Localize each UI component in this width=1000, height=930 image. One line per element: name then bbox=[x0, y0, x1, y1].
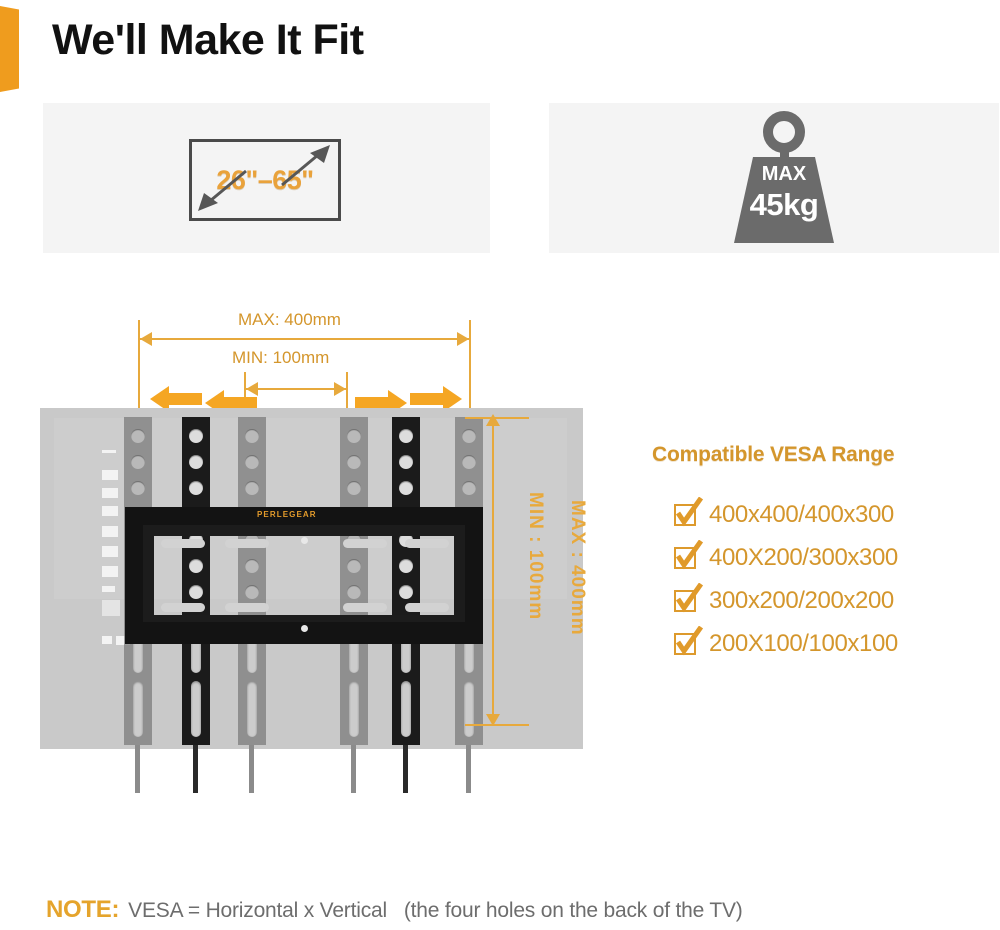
max-width-label: MAX: 400mm bbox=[238, 310, 341, 330]
note-text: VESA = Horizontal x Vertical (the four h… bbox=[128, 899, 742, 923]
vesa-item-2[interactable]: 300x200/200x200 bbox=[674, 579, 992, 622]
diagonal-arrow-up-icon bbox=[278, 145, 334, 194]
bracket-slot bbox=[343, 603, 387, 612]
tv-screen-outline-icon: 26"–65" bbox=[189, 139, 341, 221]
weight-value: 45kg bbox=[728, 187, 840, 223]
min-height-arrow-down bbox=[486, 714, 500, 726]
min-height-dimension-line bbox=[492, 424, 494, 720]
vesa-range-block: Compatible VESA Range 400x400/400x300 40… bbox=[652, 443, 992, 665]
tv-port-mark bbox=[102, 586, 115, 592]
mount-compatibility-diagram: MAX: 400mm MIN: 100mm bbox=[0, 262, 620, 792]
min-width-tick-right bbox=[346, 372, 348, 408]
tv-port-mark bbox=[102, 470, 118, 480]
bracket-slot bbox=[225, 603, 269, 612]
vesa-item-1[interactable]: 400X200/300x300 bbox=[674, 536, 992, 579]
max-width-dimension-line bbox=[140, 338, 469, 340]
footer-note: NOTE: VESA = Horizontal x Vertical (the … bbox=[46, 896, 743, 924]
tv-mount-bracket: PERLEGEAR bbox=[125, 507, 483, 644]
checkbox-checked-icon[interactable] bbox=[674, 504, 696, 526]
bracket-slot bbox=[405, 603, 449, 612]
tv-port-mark bbox=[102, 450, 116, 453]
weight-max-label: MAX bbox=[728, 163, 840, 186]
min-height-arrow-up bbox=[486, 414, 500, 426]
max-height-label: MAX : 400mm bbox=[566, 500, 588, 636]
vesa-item-label: 300x200/200x200 bbox=[709, 587, 894, 615]
bracket-slot bbox=[405, 539, 449, 548]
brand-label: PERLEGEAR bbox=[257, 510, 317, 519]
bracket-screw bbox=[301, 625, 308, 632]
vesa-item-3[interactable]: 200X100/100x100 bbox=[674, 622, 992, 665]
tv-label-mark bbox=[102, 600, 120, 616]
title-accent-bar bbox=[0, 6, 19, 92]
bracket-screw bbox=[301, 537, 308, 544]
weight-capacity-panel: MAX 45kg bbox=[549, 103, 999, 253]
vesa-heading: Compatible VESA Range bbox=[652, 443, 992, 467]
checkbox-checked-icon[interactable] bbox=[674, 547, 696, 569]
vesa-item-0[interactable]: 400x400/400x300 bbox=[674, 493, 992, 536]
max-width-arrow-right bbox=[457, 332, 469, 346]
vesa-item-label: 400x400/400x300 bbox=[709, 501, 894, 529]
page-title: We'll Make It Fit bbox=[52, 16, 364, 65]
note-label: NOTE: bbox=[46, 896, 119, 924]
min-height-label: MIN : 100mm bbox=[524, 492, 546, 620]
weight-icon: MAX 45kg bbox=[728, 111, 840, 243]
checkbox-checked-icon[interactable] bbox=[674, 633, 696, 655]
bracket-slot bbox=[225, 539, 269, 548]
tv-port-mark bbox=[102, 566, 118, 577]
screen-size-panel: 26"–65" bbox=[43, 103, 490, 253]
checkbox-checked-icon[interactable] bbox=[674, 590, 696, 612]
tv-port-mark bbox=[102, 636, 112, 644]
tv-port-mark bbox=[102, 488, 118, 498]
min-width-dimension-line bbox=[246, 388, 346, 390]
min-width-arrow-right bbox=[334, 382, 346, 396]
bracket-slot bbox=[161, 603, 205, 612]
tv-port-mark bbox=[102, 546, 118, 557]
tv-port-mark bbox=[102, 526, 118, 537]
max-width-tick-right bbox=[469, 320, 471, 408]
bracket-slot bbox=[161, 539, 205, 548]
tv-port-mark bbox=[102, 506, 118, 516]
max-width-arrow-left bbox=[140, 332, 152, 346]
bracket-slot bbox=[343, 539, 387, 548]
min-width-label: MIN: 100mm bbox=[232, 348, 329, 368]
diagonal-arrow-down-icon bbox=[194, 167, 250, 216]
vesa-item-label: 200X100/100x100 bbox=[709, 630, 898, 658]
vesa-item-label: 400X200/300x300 bbox=[709, 544, 898, 572]
